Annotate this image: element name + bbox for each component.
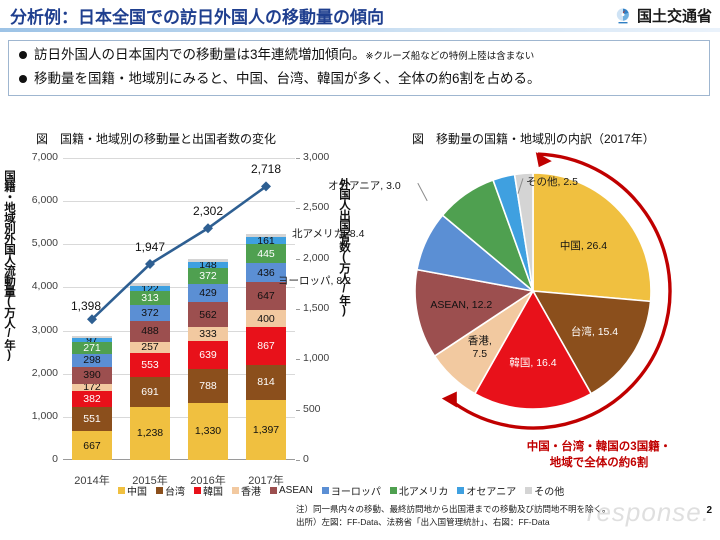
legend-label: ASEAN — [279, 485, 313, 496]
y2-axis-tick: 1,000 — [303, 352, 345, 364]
y2-tick-mark — [296, 208, 300, 209]
y-axis-tick: 4,000 — [12, 280, 58, 292]
summary-box: 訪日外国人の日本国内での移動量は3年連続増加傾向。※クルーズ船などの特例上陸は含… — [8, 40, 710, 96]
y2-axis-tick: 1,500 — [303, 302, 345, 314]
legend-swatch-icon — [232, 487, 239, 494]
line-point-label: 1,398 — [71, 299, 101, 313]
footnote-source: 出所）左図：FF-Data、法務省「出入国管理統計」、右図：FF-Data — [296, 516, 716, 529]
legend-swatch-icon — [270, 487, 277, 494]
ministry-logo: 国土交通省 — [614, 5, 712, 26]
bullet-dot-icon — [19, 51, 27, 59]
page-number: 2 — [706, 505, 712, 516]
legend-label: 韓国 — [203, 483, 223, 498]
y-axis-tick: 5,000 — [12, 237, 58, 249]
bullet-text-1: 訪日外国人の日本国内での移動量は3年連続増加傾向。 — [34, 47, 366, 62]
y2-tick-mark — [296, 309, 300, 310]
y-axis-tick: 2,000 — [12, 367, 58, 379]
pie-data-label: オセアニア, 3.0 — [328, 178, 401, 193]
left-chart-title: 図 国籍・地域別の移動量と出国者数の変化 — [36, 130, 276, 147]
legend-swatch-icon — [194, 487, 201, 494]
legend-item-0: 中国 — [118, 483, 147, 498]
x-axis-tick: 2014年 — [62, 472, 122, 488]
legend-swatch-icon — [322, 487, 329, 494]
legend-item-1: 台湾 — [156, 483, 185, 498]
y2-axis-tick: 500 — [303, 403, 345, 415]
legend-item-2: 韓国 — [194, 483, 223, 498]
legend-item-3: 香港 — [232, 483, 261, 498]
line-point-label: 1,947 — [135, 240, 165, 254]
bullet-dot-icon — [19, 75, 27, 83]
pie-data-label: ヨーロッパ, 8.2 — [278, 273, 351, 288]
bullet-item-2: 移動量を国籍・地域別にみると、中国、台湾、韓国が多く、全体の約6割を占める。 — [9, 65, 709, 89]
ministry-name: 国土交通省 — [637, 5, 712, 26]
highlight-arrow — [392, 150, 692, 450]
y2-tick-mark — [296, 460, 300, 461]
y-axis-tick: 6,000 — [12, 194, 58, 206]
legend-label: 香港 — [241, 483, 261, 498]
y-axis-tick: 3,000 — [12, 324, 58, 336]
left-y-axis-label: 国籍・地域別外国人流動量(万人/年) — [1, 170, 17, 450]
pie-data-label: 北アメリカ, 8.4 — [292, 226, 364, 241]
bullet-text-2: 移動量を国籍・地域別にみると、中国、台湾、韓国が多く、全体の約6割を占める。 — [34, 69, 540, 89]
legend-item-4: ASEAN — [270, 485, 313, 496]
y2-axis-tick: 3,000 — [303, 151, 345, 163]
y2-tick-mark — [296, 359, 300, 360]
bullet-note-1: ※クルーズ船などの特例上陸は含まない — [366, 51, 535, 62]
y2-tick-mark — [296, 259, 300, 260]
y-axis-tick: 1,000 — [12, 410, 58, 422]
y2-tick-mark — [296, 158, 300, 159]
right-y-axis-label: 外国人出国者数(万人/年) — [336, 178, 352, 458]
line-point-label: 2,302 — [193, 204, 223, 218]
pie-annotation-line2: 地域で全体の約6割 — [484, 456, 714, 472]
pie-annotation-line1: 中国・台湾・韓国の3国籍・ — [484, 440, 714, 456]
page-header: 分析例：日本全国での訪日外国人の移動量の傾向 国土交通省 — [0, 0, 720, 30]
footer-notes: 注）同一県内々の移動、最終訪問地から出国港までの移動及び訪問地不明を除く。 出所… — [296, 503, 716, 529]
y2-axis-tick: 0 — [303, 453, 345, 465]
footnote-note: 注）同一県内々の移動、最終訪問地から出国港までの移動及び訪問地不明を除く。 — [296, 503, 716, 516]
y2-axis-tick: 2,500 — [303, 201, 345, 213]
right-chart-title: 図 移動量の国籍・地域別の内訳（2017年） — [412, 130, 655, 147]
y-axis-tick: 0 — [12, 453, 58, 465]
header-divider — [0, 28, 720, 32]
y-axis-tick: 7,000 — [12, 151, 58, 163]
arrow-head-icon — [442, 391, 457, 407]
legend-swatch-icon — [118, 487, 125, 494]
legend-label: 中国 — [127, 483, 147, 498]
pie-chart: 中国, 26.4台湾, 15.4韓国, 16.4ASEAN, 12.2香港,7.… — [360, 150, 720, 490]
y2-tick-mark — [296, 410, 300, 411]
plot-area: 972712983901723825516672014年122313372488… — [63, 158, 295, 460]
y2-axis-tick: 2,000 — [303, 252, 345, 264]
legend-label: 台湾 — [165, 483, 185, 498]
pie-graphic: 中国, 26.4台湾, 15.4韓国, 16.4ASEAN, 12.2香港,7.… — [408, 166, 658, 416]
highlight-arc — [455, 154, 670, 428]
page-title: 分析例：日本全国での訪日外国人の移動量の傾向 — [10, 3, 384, 28]
pie-annotation: 中国・台湾・韓国の3国籍・ 地域で全体の約6割 — [484, 440, 714, 471]
mlit-swirl-icon — [614, 7, 632, 25]
legend-swatch-icon — [156, 487, 163, 494]
line-point-label: 2,718 — [251, 162, 281, 176]
bullet-item-1: 訪日外国人の日本国内での移動量は3年連続増加傾向。※クルーズ船などの特例上陸は含… — [9, 41, 709, 65]
